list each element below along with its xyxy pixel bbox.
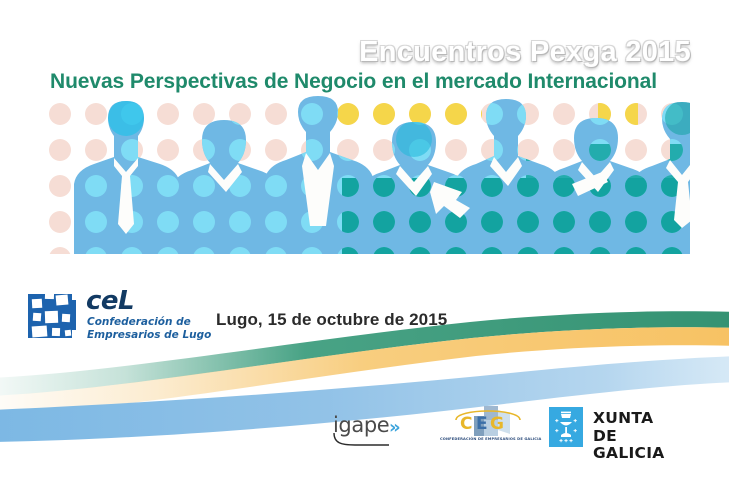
ceg-logo: C E G CONFEDERACIÓN DE EMPRESARIOS DE GA… <box>440 404 536 450</box>
ceg-caption: CONFEDERACIÓN DE EMPRESARIOS DE GALICIA <box>440 437 536 441</box>
svg-text:G: G <box>490 414 504 434</box>
igape-logo: igape » <box>333 414 429 448</box>
cel-logo: ceL Confederación de Empresarios de Lugo <box>26 288 216 350</box>
silhouette-graphic-icon <box>42 96 690 263</box>
header-block: Encuentros Pexga 2015 Nuevas Perspectiva… <box>0 0 729 100</box>
xunta-wordmark: XUNTA DE GALICIA <box>593 410 689 463</box>
footer-logo-row: igape » C E G CONFEDERACIÓN DE EMPRESAR <box>0 398 729 460</box>
cel-tagline: Confederación de Empresarios de Lugo <box>87 316 211 341</box>
svg-text:E: E <box>476 414 488 434</box>
event-date: Lugo, 15 de octubre de 2015 <box>216 310 447 330</box>
cel-wordmark: ceL <box>86 288 134 314</box>
igape-swoosh-icon <box>331 431 393 447</box>
xunta-coat-of-arms-icon <box>549 407 583 447</box>
xunta-logo: XUNTA DE GALICIA <box>549 407 689 449</box>
page-title: Encuentros Pexga 2015 <box>359 36 691 69</box>
banner-illustration <box>42 96 690 263</box>
poster-canvas: Encuentros Pexga 2015 Nuevas Perspectiva… <box>0 0 729 492</box>
ceg-mark-icon: C E G <box>440 404 536 438</box>
svg-text:C: C <box>460 414 472 434</box>
page-subtitle: Nuevas Perspectivas de Negocio en el mer… <box>50 70 657 94</box>
cel-squares-mark-icon <box>26 290 78 342</box>
